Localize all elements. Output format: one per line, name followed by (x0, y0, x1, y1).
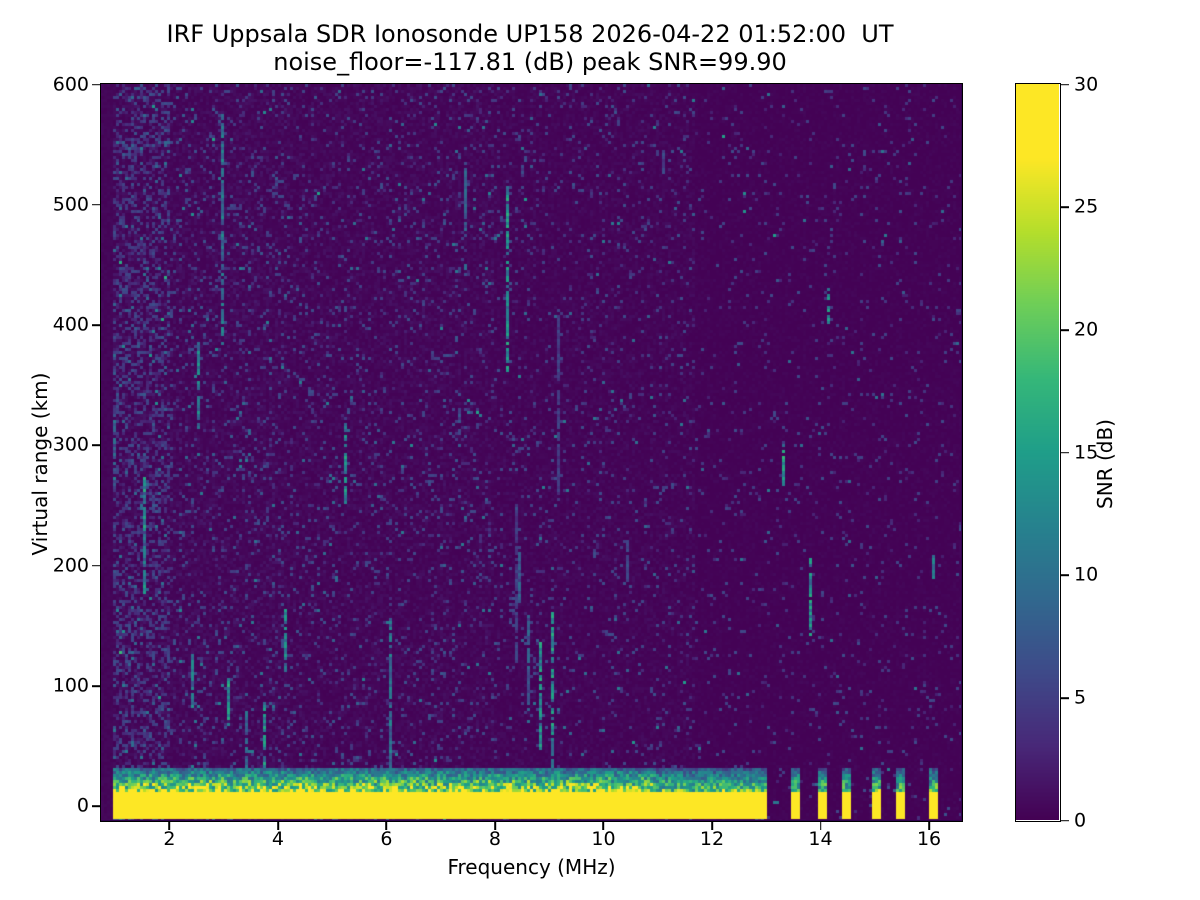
x-tick-label: 2 (163, 830, 175, 849)
colorbar-tick-mark (1061, 452, 1069, 454)
x-tick-label: 4 (272, 830, 284, 849)
colorbar-tick-mark (1061, 329, 1069, 331)
y-tick-mark (92, 84, 100, 86)
colorbar-tick-mark (1061, 84, 1069, 86)
y-tick-label: 0 (77, 797, 89, 816)
colorbar-tick-label: 15 (1074, 443, 1098, 462)
y-tick-label: 600 (53, 75, 89, 94)
ionogram-plot-area (100, 83, 963, 822)
colorbar-tick-label: 5 (1074, 688, 1086, 707)
title-line-subtitle: noise_floor=-117.81 (dB) peak SNR=99.90 (0, 48, 1060, 76)
y-tick-mark (92, 805, 100, 807)
colorbar-tick-label: 10 (1074, 566, 1098, 585)
colorbar-tick-label: 25 (1074, 198, 1098, 217)
colorbar-tick-mark (1061, 574, 1069, 576)
y-tick-mark (92, 445, 100, 447)
snr-colorbar (1015, 83, 1061, 822)
colorbar-tick-label: 20 (1074, 320, 1098, 339)
colorbar-tick-mark (1061, 206, 1069, 208)
ionogram-figure: IRF Uppsala SDR Ionosonde UP158 2026-04-… (0, 0, 1200, 900)
y-tick-mark (92, 685, 100, 687)
title-line-main: IRF Uppsala SDR Ionosonde UP158 2026-04-… (0, 20, 1060, 48)
colorbar-tick-label: 0 (1074, 811, 1086, 830)
y-axis-label: Virtual range (km) (28, 264, 52, 664)
y-tick-mark (92, 565, 100, 567)
y-tick-mark (92, 204, 100, 206)
x-tick-label: 6 (380, 830, 392, 849)
colorbar-tick-mark (1061, 820, 1069, 822)
colorbar-gradient (1016, 84, 1059, 820)
x-tick-label: 10 (591, 830, 615, 849)
x-tick-label: 12 (700, 830, 724, 849)
x-tick-label: 16 (917, 830, 941, 849)
y-tick-mark (92, 324, 100, 326)
y-tick-label: 200 (53, 556, 89, 575)
figure-title: IRF Uppsala SDR Ionosonde UP158 2026-04-… (0, 20, 1060, 77)
y-tick-label: 100 (53, 676, 89, 695)
y-tick-label: 300 (53, 436, 89, 455)
x-tick-label: 8 (489, 830, 501, 849)
ionogram-heatmap-canvas (101, 84, 961, 820)
colorbar-tick-mark (1061, 697, 1069, 699)
y-tick-label: 400 (53, 316, 89, 335)
y-tick-label: 500 (53, 195, 89, 214)
x-axis-label: Frequency (MHz) (100, 855, 963, 879)
x-tick-label: 14 (808, 830, 832, 849)
colorbar-tick-label: 30 (1074, 75, 1098, 94)
